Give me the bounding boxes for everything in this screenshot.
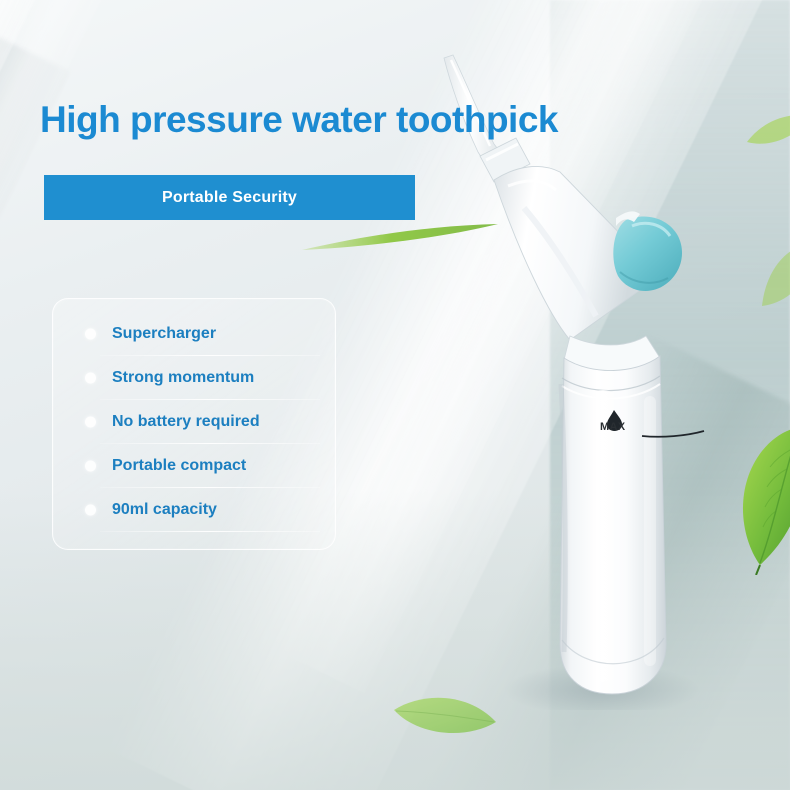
bullet-icon xyxy=(85,461,96,472)
divider xyxy=(100,531,320,532)
feature-list: Supercharger Strong momentum No battery … xyxy=(52,298,334,548)
list-item: No battery required xyxy=(52,400,334,444)
feature-label: No battery required xyxy=(112,413,260,431)
banner-label: Portable Security xyxy=(162,189,297,207)
list-item: Strong momentum xyxy=(52,356,334,400)
bullet-icon xyxy=(85,505,96,516)
list-item: Supercharger xyxy=(52,312,334,356)
bullet-icon xyxy=(85,329,96,340)
feature-label: Strong momentum xyxy=(112,369,254,387)
leaf-mid-right-icon xyxy=(758,240,790,310)
feature-label: Portable compact xyxy=(112,457,246,475)
max-label: MAX xyxy=(600,421,625,433)
portable-security-banner: Portable Security xyxy=(44,175,415,220)
bullet-icon xyxy=(85,417,96,428)
feature-label: 90ml capacity xyxy=(112,501,217,519)
product-banner-image: MAX High pressure water toothpick Portab… xyxy=(0,0,790,790)
list-item: Portable compact xyxy=(52,444,334,488)
bullet-icon xyxy=(85,373,96,384)
list-item: 90ml capacity xyxy=(52,488,334,532)
feature-label: Supercharger xyxy=(112,325,216,343)
page-title: High pressure water toothpick xyxy=(40,100,640,141)
